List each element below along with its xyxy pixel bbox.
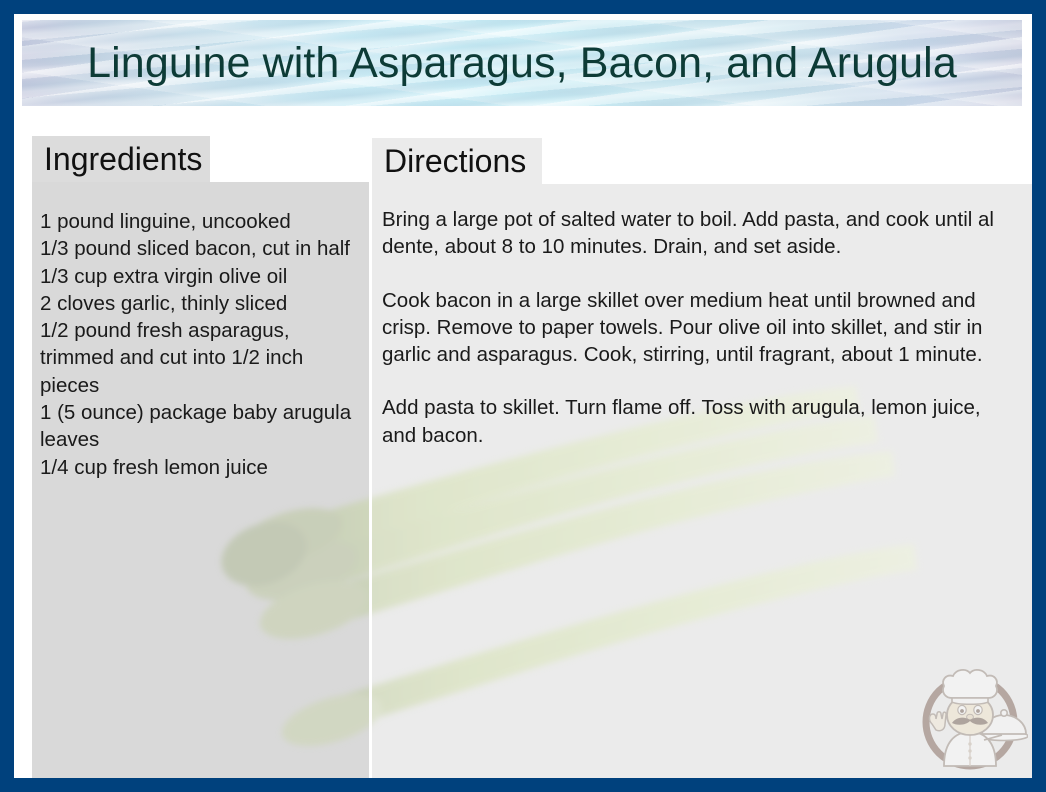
ingredient-item: 1 (5 ounce) package baby arugula: [40, 399, 363, 426]
ingredient-item: leaves: [40, 426, 363, 453]
ingredient-item: 1/2 pound fresh asparagus,: [40, 317, 363, 344]
ingredient-item: pieces: [40, 372, 363, 399]
ingredient-item: trimmed and cut into 1/2 inch: [40, 344, 363, 371]
ingredient-item: 2 cloves garlic, thinly sliced: [40, 290, 363, 317]
ingredient-item: 1/3 pound sliced bacon, cut in half: [40, 235, 363, 262]
title-banner: Linguine with Asparagus, Bacon, and Arug…: [22, 20, 1022, 106]
tab-directions: Directions: [372, 138, 542, 184]
ingredients-heading: Ingredients: [32, 136, 210, 182]
ingredient-item: 1/3 cup extra virgin olive oil: [40, 263, 363, 290]
card-inner: Linguine with Asparagus, Bacon, and Arug…: [14, 14, 1032, 778]
ingredients-panel: 1 pound linguine, uncooked 1/3 pound sli…: [32, 182, 369, 778]
direction-paragraph: Cook bacon in a large skillet over mediu…: [382, 287, 1018, 369]
direction-paragraph: Bring a large pot of salted water to boi…: [382, 206, 1018, 261]
ingredients-list: 1 pound linguine, uncooked 1/3 pound sli…: [32, 182, 369, 481]
directions-heading: Directions: [372, 138, 542, 184]
directions-text: Bring a large pot of salted water to boi…: [372, 184, 1032, 449]
direction-paragraph: Add pasta to skillet. Turn flame off. To…: [382, 394, 1018, 449]
recipe-card: Linguine with Asparagus, Bacon, and Arug…: [0, 0, 1046, 792]
chef-mascot-logo: [912, 658, 1028, 774]
page-title: Linguine with Asparagus, Bacon, and Arug…: [22, 20, 1022, 106]
ingredient-item: 1 pound linguine, uncooked: [40, 208, 363, 235]
tab-ingredients: Ingredients: [32, 136, 210, 182]
ingredient-item: 1/4 cup fresh lemon juice: [40, 454, 363, 481]
